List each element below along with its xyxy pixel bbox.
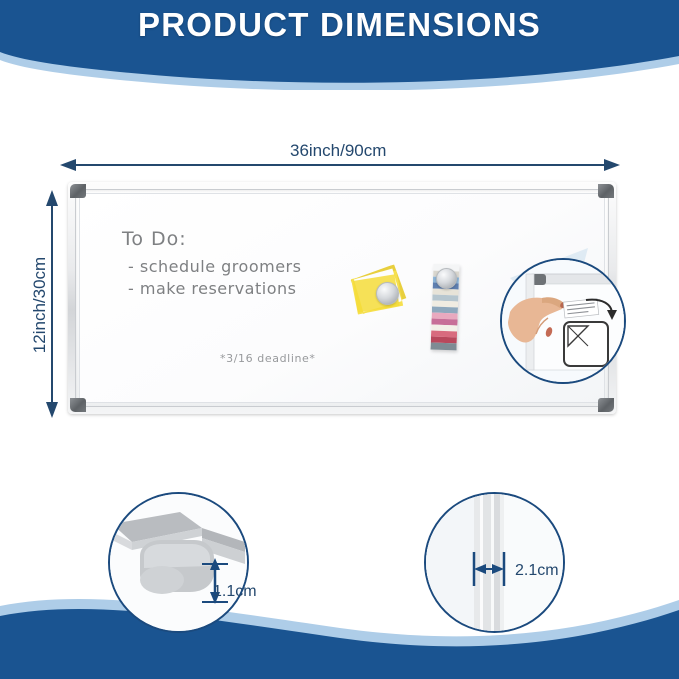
corner-piece-top-right [598, 184, 614, 198]
protective-film-illustration [502, 260, 624, 382]
corner-piece-bottom-left [70, 398, 86, 412]
width-dimension-arrow [60, 155, 620, 175]
handwritten-todo-item-1: - schedule groomers [128, 257, 301, 276]
footer-banner [0, 584, 679, 679]
round-magnet-on-yellow-note [376, 282, 399, 305]
callout-protective-film [500, 258, 626, 384]
depth-measurement-label: 2.1cm [515, 562, 559, 580]
stripe [431, 343, 457, 351]
callout-corner-thickness [108, 492, 249, 633]
footer-curve-graphic [0, 584, 679, 679]
header-banner: PRODUCT DIMENSIONS [0, 0, 679, 90]
handwritten-todo-item-2: - make reservations [128, 279, 296, 298]
corner-piece-top-left [70, 184, 86, 198]
handwritten-todo-title: To Do: [122, 228, 187, 250]
page-title: PRODUCT DIMENSIONS [0, 6, 679, 44]
handwritten-deadline-note: *3/16 deadline* [220, 352, 316, 365]
corner-thickness-illustration [110, 494, 247, 631]
height-dimension-arrow [42, 190, 62, 418]
thickness-measurement-label: 1.1cm [213, 583, 257, 601]
corner-piece-bottom-right [598, 398, 614, 412]
round-magnet-on-striped-note [436, 268, 457, 289]
